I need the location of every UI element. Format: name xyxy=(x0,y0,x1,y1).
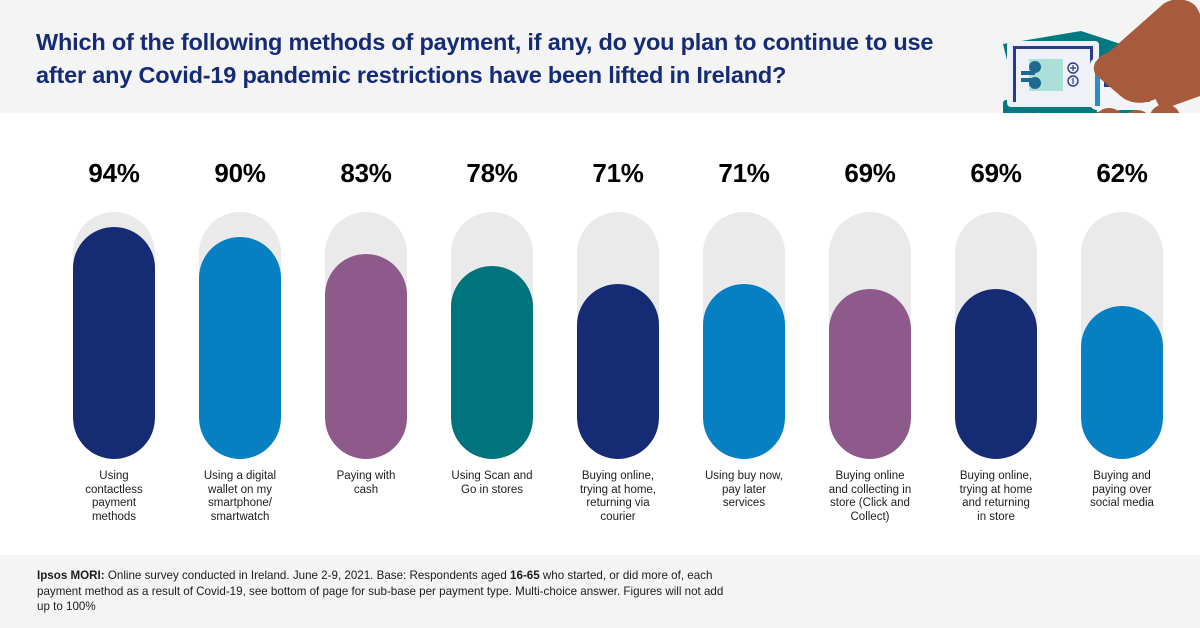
bar-value-label-7: 69% xyxy=(934,158,1058,189)
capsule-bar-chart: 94% Using contactless payment methods 90… xyxy=(0,113,1200,555)
bar-fill-3 xyxy=(451,266,533,459)
bar-value-label-0: 94% xyxy=(52,158,176,189)
bar-fill-6 xyxy=(829,289,911,459)
footer-band: Ipsos MORI: Online survey conducted in I… xyxy=(0,555,1200,628)
bar-value-label-4: 71% xyxy=(556,158,680,189)
bar-fill-4 xyxy=(577,284,659,459)
bar-category-label-8: Buying and paying over social media xyxy=(1062,470,1182,511)
bar-category-label-1: Using a digital wallet on my smartphone/… xyxy=(180,470,300,524)
bar-fill-7 xyxy=(955,289,1037,459)
age-range: 16-65 xyxy=(510,569,540,582)
bar-category-label-6: Buying online and collecting in store (C… xyxy=(810,470,930,524)
bar-fill-5 xyxy=(703,284,785,459)
bar-category-label-5: Using buy now, pay later services xyxy=(684,470,804,511)
bar-fill-8 xyxy=(1081,306,1163,459)
bar-column-1: 90% Using a digital wallet on my smartph… xyxy=(178,113,302,555)
bar-column-5: 71% Using buy now, pay later services xyxy=(682,113,806,555)
bar-track-6 xyxy=(829,212,911,459)
bar-value-label-1: 90% xyxy=(178,158,302,189)
bar-track-4 xyxy=(577,212,659,459)
bar-category-label-4: Buying online, trying at home, returning… xyxy=(558,470,678,524)
header-band: Which of the following methods of paymen… xyxy=(0,0,1200,113)
bar-value-label-6: 69% xyxy=(808,158,932,189)
bar-category-label-3: Using Scan and Go in stores xyxy=(432,470,552,497)
bar-value-label-8: 62% xyxy=(1060,158,1184,189)
infographic-page: Which of the following methods of paymen… xyxy=(0,0,1200,628)
bar-track-0 xyxy=(73,212,155,459)
source-note: Ipsos MORI: Online survey conducted in I… xyxy=(37,568,737,615)
bar-track-2 xyxy=(325,212,407,459)
bar-column-0: 94% Using contactless payment methods xyxy=(52,113,176,555)
bar-column-2: 83% Paying with cash xyxy=(304,113,428,555)
terminal-illustration-svg xyxy=(985,0,1200,113)
bar-track-1 xyxy=(199,212,281,459)
bar-value-label-2: 83% xyxy=(304,158,428,189)
bar-column-6: 69% Buying online and collecting in stor… xyxy=(808,113,932,555)
bar-value-label-3: 78% xyxy=(430,158,554,189)
hand-holding-payment-terminal-illustration xyxy=(985,0,1200,113)
bar-track-5 xyxy=(703,212,785,459)
bar-fill-2 xyxy=(325,254,407,459)
bar-track-3 xyxy=(451,212,533,459)
bar-value-label-5: 71% xyxy=(682,158,806,189)
bar-column-7: 69% Buying online, trying at home and re… xyxy=(934,113,1058,555)
source-label: Ipsos MORI: xyxy=(37,569,105,582)
bar-column-8: 62% Buying and paying over social media xyxy=(1060,113,1184,555)
source-text-part1: Online survey conducted in Ireland. June… xyxy=(105,569,510,582)
bar-fill-0 xyxy=(73,227,155,459)
bar-column-4: 71% Buying online, trying at home, retur… xyxy=(556,113,680,555)
bar-category-label-7: Buying online, trying at home and return… xyxy=(936,470,1056,524)
bar-category-label-0: Using contactless payment methods xyxy=(54,470,174,524)
bar-track-8 xyxy=(1081,212,1163,459)
bar-category-label-2: Paying with cash xyxy=(306,470,426,497)
page-title: Which of the following methods of paymen… xyxy=(36,26,976,92)
bar-column-3: 78% Using Scan and Go in stores xyxy=(430,113,554,555)
bar-track-7 xyxy=(955,212,1037,459)
bar-fill-1 xyxy=(199,237,281,459)
